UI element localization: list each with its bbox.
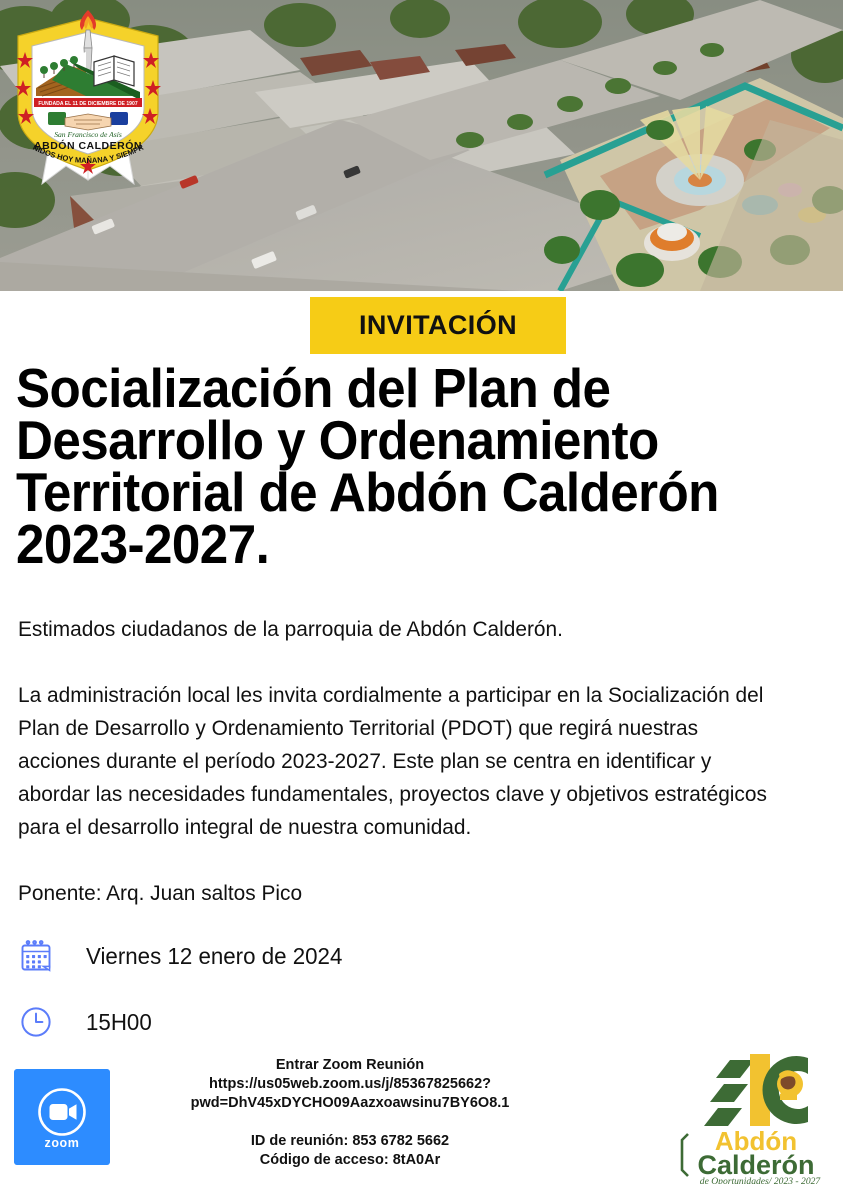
body-copy: Estimados ciudadanos de la parroquia de …: [18, 613, 833, 910]
zoom-passcode: Código de acceso: 8tA0Ar: [150, 1151, 550, 1170]
clock-icon: [14, 1000, 58, 1044]
event-time-text: 15H00: [86, 1009, 152, 1036]
speaker-paragraph: Ponente: Arq. Juan saltos Pico: [18, 877, 809, 910]
page-title: Socialización del Plan de Desarrollo y O…: [16, 362, 782, 570]
main-paragraph: La administración local les invita cordi…: [18, 679, 809, 844]
invitation-badge-label: INVITACIÓN: [359, 310, 517, 341]
greeting-paragraph: Estimados ciudadanos de la parroquia de …: [18, 613, 809, 646]
calendar-icon: [14, 934, 58, 978]
main-paragraph-line-4: abordar las necesidades fundamentales, p…: [18, 778, 809, 811]
event-time-row: 15H00: [14, 1000, 154, 1044]
page-title-line-4: 2023-2027.: [16, 518, 782, 570]
page-title-line-1: Socialización del Plan de: [16, 362, 782, 414]
page-title-line-3: Territorial de Abdón Calderón: [16, 466, 782, 518]
speaker-line: Ponente: Arq. Juan saltos Pico: [18, 877, 809, 910]
crest-saint-text: San Francisco de Asís: [54, 130, 122, 139]
municipal-coat-of-arms: FUNDADA EL 11 DE DICIEMBRE DE 1907 San F…: [8, 8, 168, 186]
main-paragraph-line-5: para el desarrollo integral de nuestra c…: [18, 811, 809, 844]
brand-tagline: de Oportunidades/ 2023 - 2027: [700, 1176, 822, 1184]
event-date-text: Viernes 12 enero de 2024: [86, 943, 342, 970]
main-paragraph-line-1: La administración local les invita cordi…: [18, 679, 809, 712]
zoom-url-line-2[interactable]: pwd=DhV45xDYCHO09Aazxoawsinu7BY6O8.1: [150, 1094, 550, 1113]
zoom-app-logo[interactable]: zoom: [14, 1069, 110, 1165]
zoom-meeting-info: Entrar Zoom Reunión https://us05web.zoom…: [150, 1056, 550, 1170]
greeting-line-1: Estimados ciudadanos de la parroquia de …: [18, 613, 809, 646]
invitation-poster: FUNDADA EL 11 DE DICIEMBRE DE 1907 San F…: [0, 0, 843, 1192]
page-title-line-2: Desarrollo y Ordenamiento: [16, 414, 782, 466]
zoom-credentials: ID de reunión: 853 6782 5662 Código de a…: [150, 1132, 550, 1170]
zoom-meeting-id: ID de reunión: 853 6782 5662: [150, 1132, 550, 1151]
zoom-logo-label: zoom: [44, 1136, 79, 1150]
zoom-url-line-1[interactable]: https://us05web.zoom.us/j/85367825662?: [150, 1075, 550, 1094]
main-paragraph-line-3: acciones durante el período 2023-2027. E…: [18, 745, 809, 778]
abdon-calderon-brand-logo: Abdón Calderón de Oportunidades/ 2023 - …: [668, 1044, 834, 1184]
invitation-badge: INVITACIÓN: [310, 297, 566, 354]
crest-founded-text: FUNDADA EL 11 DE DICIEMBRE DE 1907: [38, 101, 138, 107]
brand-monogram: [704, 1054, 808, 1126]
event-date-row: Viernes 12 enero de 2024: [14, 934, 350, 978]
zoom-join-heading: Entrar Zoom Reunión: [150, 1056, 550, 1075]
main-paragraph-line-2: Plan de Desarrollo y Ordenamiento Territ…: [18, 712, 809, 745]
